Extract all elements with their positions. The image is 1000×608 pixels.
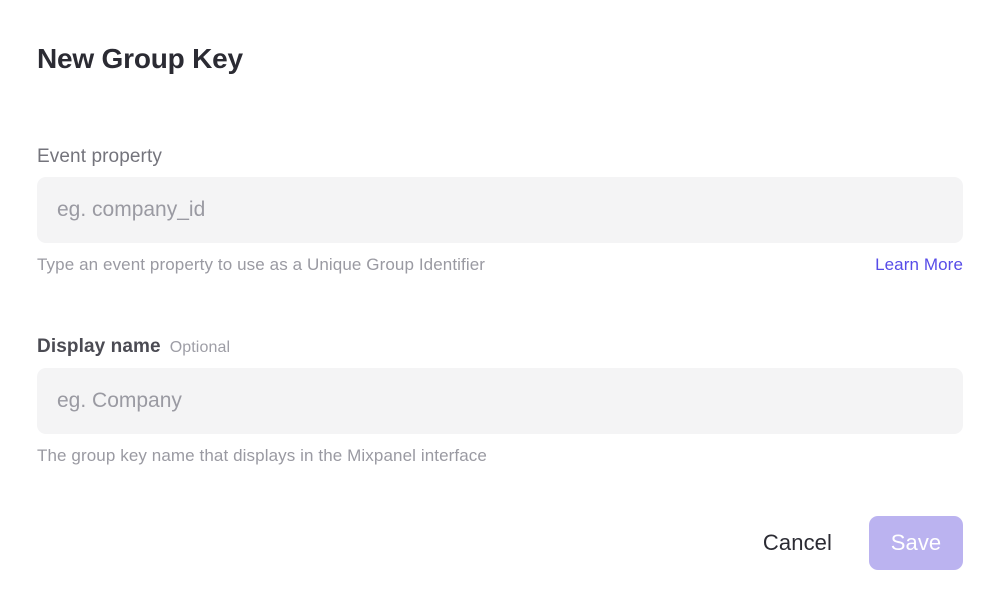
learn-more-link[interactable]: Learn More <box>875 254 963 276</box>
cancel-button[interactable]: Cancel <box>763 529 832 557</box>
event-property-label: Event property <box>37 146 963 168</box>
page-title: New Group Key <box>37 41 243 77</box>
display-name-helper-row: The group key name that displays in the … <box>37 445 963 467</box>
event-property-helper-row: Type an event property to use as a Uniqu… <box>37 254 963 276</box>
field-group-display-name: Display name Optional The group key name… <box>37 336 963 467</box>
field-group-event-property: Event property Type an event property to… <box>37 146 963 276</box>
display-name-optional-tag: Optional <box>170 337 230 359</box>
event-property-label-text: Event property <box>37 146 162 168</box>
save-button[interactable]: Save <box>869 516 963 570</box>
new-group-key-modal: New Group Key Event property Type an eve… <box>0 0 1000 608</box>
event-property-helper-text: Type an event property to use as a Uniqu… <box>37 254 485 276</box>
modal-footer: Cancel Save <box>763 516 963 570</box>
display-name-helper-text: The group key name that displays in the … <box>37 445 487 467</box>
display-name-input[interactable] <box>37 368 963 434</box>
display-name-label-text: Display name <box>37 336 161 358</box>
event-property-input[interactable] <box>37 177 963 243</box>
display-name-label: Display name Optional <box>37 336 963 359</box>
